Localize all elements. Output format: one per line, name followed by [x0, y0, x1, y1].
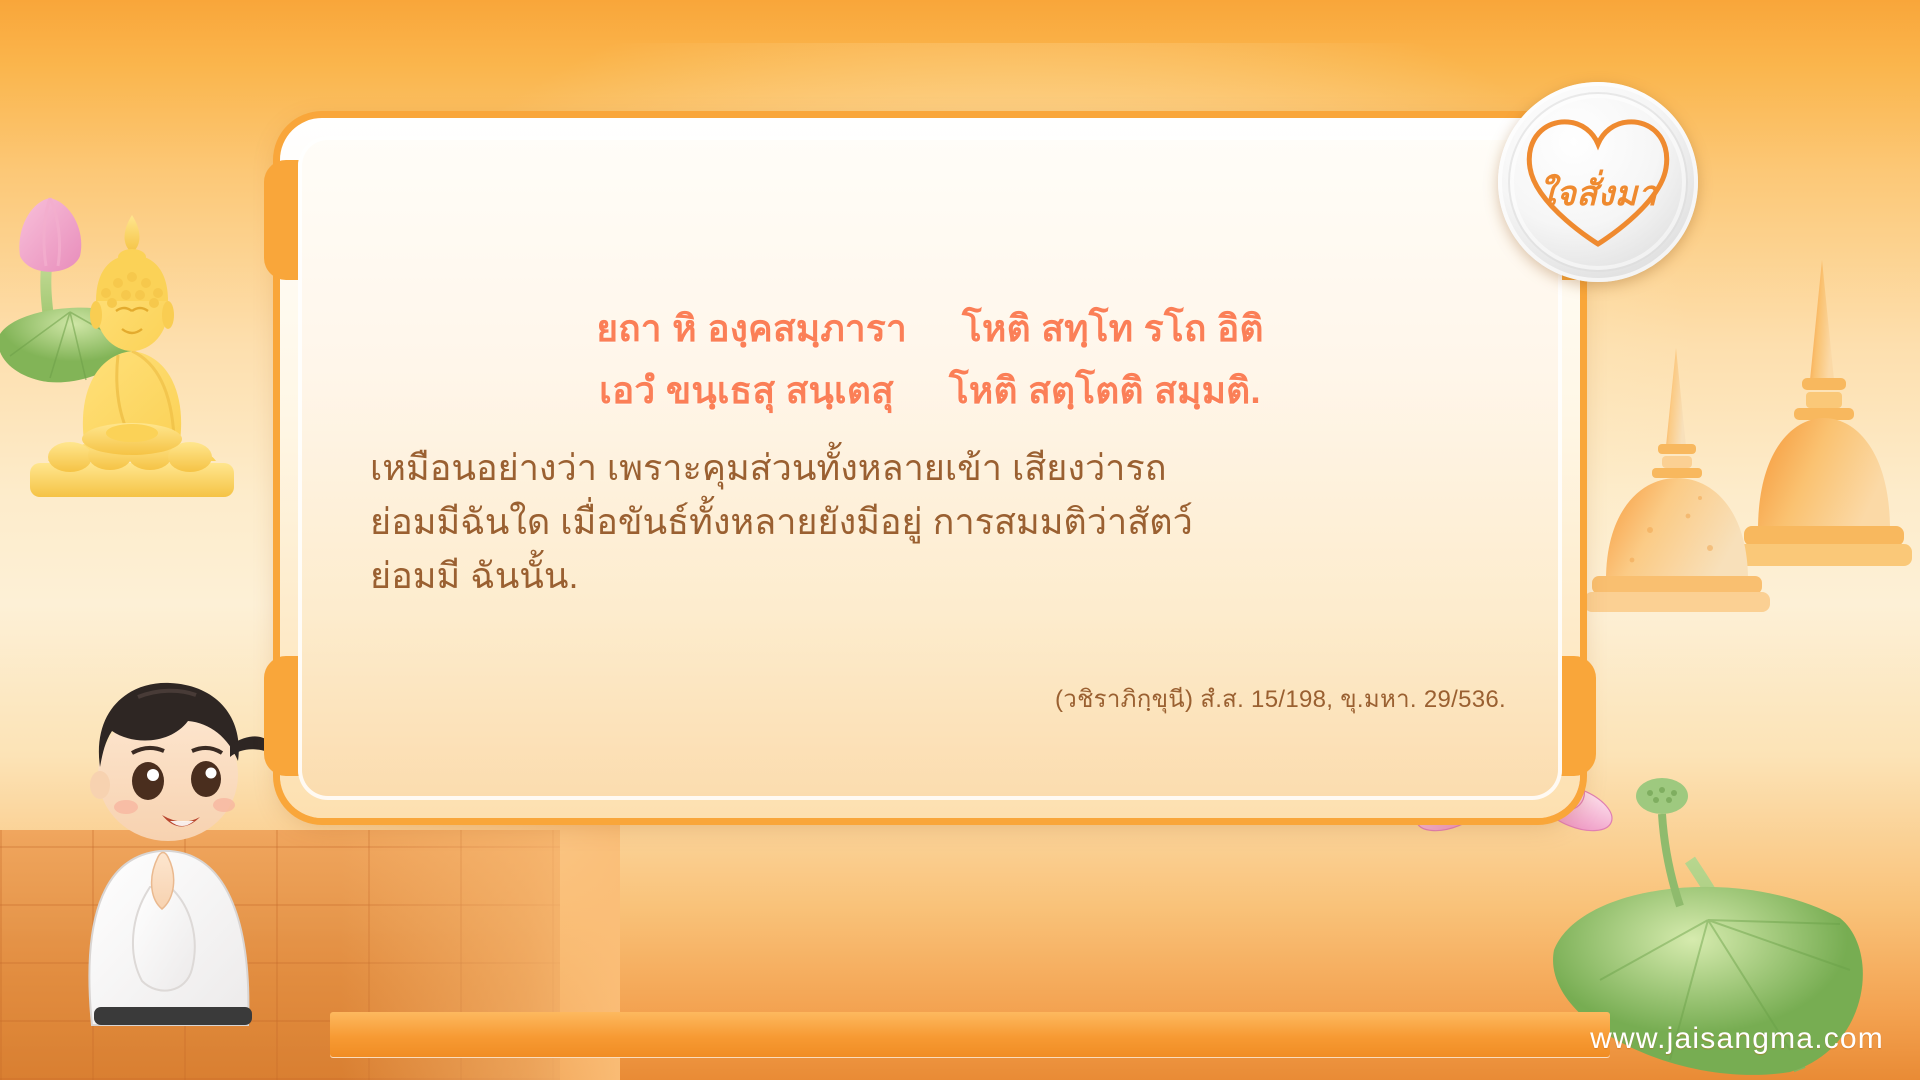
- translation-line-2: ย่อมมีฉันใด เมื่อขันธ์ทั้งหลายยังมีอยู่ …: [370, 495, 1442, 549]
- pali-verse: ยถา หิ องฺคสมฺภารา โหติ สทฺโท รโถ อิติ เ…: [298, 298, 1562, 422]
- pali-line2-left: เอวํ ขนฺเธสุ สนฺเตสุ: [599, 360, 894, 422]
- badge-label: ใจสั่งมา: [1498, 166, 1698, 220]
- translation-line-1: เหมือนอย่างว่า เพราะคุมส่วนทั้งหลายเข้า …: [370, 441, 1442, 495]
- card-content-area: ยถา หิ องฺคสมฺภารา โหติ สทฺโท รโถ อิติ เ…: [298, 136, 1562, 800]
- jaisangma-logo-badge[interactable]: ใจสั่งมา: [1498, 82, 1698, 282]
- translation-line-3: ย่อมมี ฉันนั้น.: [370, 549, 1442, 603]
- dhamma-card: ยถา หิ องฺคสมฺภารา โหติ สทฺโท รโถ อิติ เ…: [280, 118, 1580, 818]
- buddha-statue-icon: [22, 205, 242, 505]
- thai-translation: เหมือนอย่างว่า เพราะคุมส่วนทั้งหลายเข้า …: [370, 441, 1442, 603]
- pali-verse-line-2: เอวํ ขนฺเธสุ สนฺเตสุ โหติ สตฺโตติ สมฺมติ…: [298, 360, 1562, 422]
- source-citation: (วชิราภิกฺขุนี) สํ.ส. 15/198, ขุ.มหา. 29…: [1055, 679, 1506, 718]
- pali-verse-line-1: ยถา หิ องฺคสมฺภารา โหติ สทฺโท รโถ อิติ: [298, 298, 1562, 360]
- website-url[interactable]: www.jaisangma.com: [1590, 1022, 1884, 1056]
- poster-canvas: ยถา หิ องฺคสมฺภารา โหติ สทฺโท รโถ อิติ เ…: [0, 0, 1920, 1080]
- website-bar: [330, 1012, 1610, 1058]
- pali-line1-left: ยถา หิ องฺคสมฺภารา: [596, 298, 907, 360]
- pali-line2-right: โหติ สตฺโตติ สมฺมติ.: [949, 360, 1261, 422]
- pali-line1-right: โหติ สทฺโท รโถ อิติ: [962, 298, 1264, 360]
